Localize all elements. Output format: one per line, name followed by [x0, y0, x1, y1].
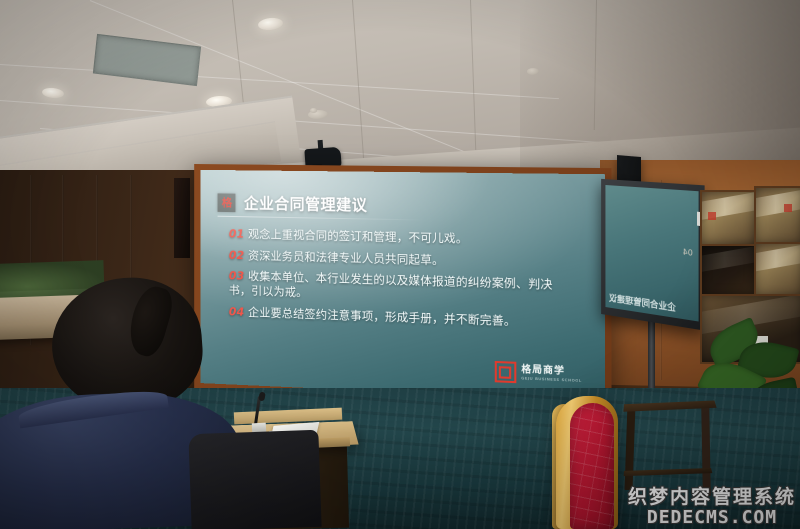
slide-bullet: 01观念上重视合同的签订和管理，不可儿戏。: [229, 227, 577, 249]
seal-icon: [495, 361, 517, 383]
bullet-number: 04: [229, 304, 244, 318]
framed-artwork: [754, 186, 800, 246]
ceiling-downlight: [310, 108, 317, 113]
slide-bullet: 03收集本单位、本行业发生的以及媒体报道的纠纷案例、判决书，引以为戒。: [229, 269, 577, 309]
bullet-text: 资深业务员和法律专业人员共同起草。: [248, 248, 444, 267]
photo-scene: 格 企业合同管理建议 01观念上重视合同的签订和管理，不可儿戏。 02资深业务员…: [0, 0, 800, 529]
monitor-mirrored-number: 04: [683, 247, 693, 257]
bullet-number: 03: [229, 269, 244, 283]
watermark: 织梦内容管理系统 DEDECMS.COM: [628, 488, 796, 527]
watermark-cn: 织梦内容管理系统: [628, 488, 796, 507]
seal-inner-icon: [499, 366, 511, 379]
slide-bullet: 04企业要总结签约注意事项，形成手册，并不断完善。: [229, 304, 577, 331]
slide-logo-glyph: 格: [222, 197, 231, 208]
framed-artwork: [754, 242, 800, 298]
slide-title-bar: 格 企业合同管理建议: [218, 191, 368, 215]
slide-title: 企业合同管理建议: [244, 192, 367, 216]
frame-glass-reflection: [754, 188, 800, 218]
secondary-monitor-screen: 企业合同管理建议 04: [605, 185, 698, 322]
wall-speaker: [174, 178, 190, 258]
stand-leg: [701, 402, 711, 496]
slide-bullet: 02资深业务员和法律专业人员共同起草。: [229, 248, 577, 272]
bullet-number: 01: [229, 227, 244, 241]
foreground-chair: [188, 430, 321, 529]
bullet-number: 02: [229, 248, 244, 262]
bullet-text: 企业要总结签约注意事项，形成手册，并不断完善。: [248, 305, 516, 328]
frame-glass-reflection: [700, 245, 756, 274]
bullet-text: 收集本单位、本行业发生的以及媒体报道的纠纷案例、判决书，引以为戒。: [229, 269, 553, 299]
slide-logo-icon: 格: [218, 193, 236, 212]
framed-artwork: [700, 244, 756, 296]
art-seal-icon: [784, 204, 792, 212]
footer-brand-en: GEJU BUSINESS SCHOOL: [521, 375, 582, 384]
projection-screen: 格 企业合同管理建议 01观念上重视合同的签订和管理，不可儿戏。 02资深业务员…: [201, 170, 605, 402]
watermark-en: DEDECMS.COM: [628, 509, 796, 527]
slide-footer-logo: 格局商学 GEJU BUSINESS SCHOOL: [495, 361, 582, 386]
footer-brand: 格局商学 GEJU BUSINESS SCHOOL: [521, 365, 582, 384]
slide-bullet-list: 01观念上重视合同的签订和管理，不可儿戏。 02资深业务员和法律专业人员共同起草…: [229, 227, 577, 338]
framed-artwork: [700, 190, 756, 246]
frame-glass-reflection: [754, 244, 800, 273]
slide-content: 格 企业合同管理建议 01观念上重视合同的签订和管理，不可儿戏。 02资深业务员…: [201, 170, 605, 402]
chair-upholstery: [570, 403, 614, 529]
bullet-text: 观念上重视合同的签订和管理，不可儿戏。: [248, 227, 468, 246]
slide-title-underline: [218, 216, 426, 221]
art-seal-icon: [708, 212, 716, 220]
